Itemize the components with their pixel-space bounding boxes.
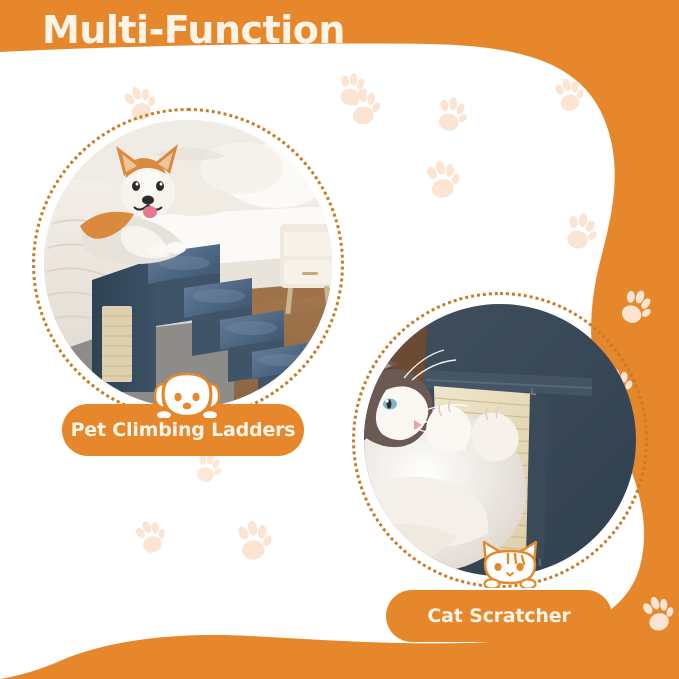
paw-print-icon xyxy=(552,208,604,260)
photo-pet-climbing-ladders xyxy=(44,120,332,408)
badge-cat-scratcher[interactable]: Cat Scratcher xyxy=(386,590,612,642)
dog-face-icon xyxy=(152,370,222,418)
paw-print-icon xyxy=(425,93,474,142)
paw-print-icon xyxy=(414,156,467,209)
badge-label: Cat Scratcher xyxy=(427,605,570,627)
photo-cat-scratcher xyxy=(364,304,636,576)
badge-label: Pet Climbing Ladders xyxy=(71,419,296,441)
infographic-canvas: Multi-Function xyxy=(0,0,679,679)
paw-print-icon xyxy=(226,518,279,571)
cat-face-icon xyxy=(478,538,542,588)
page-title: Multi-Function xyxy=(42,8,345,52)
paw-print-icon xyxy=(338,86,386,134)
